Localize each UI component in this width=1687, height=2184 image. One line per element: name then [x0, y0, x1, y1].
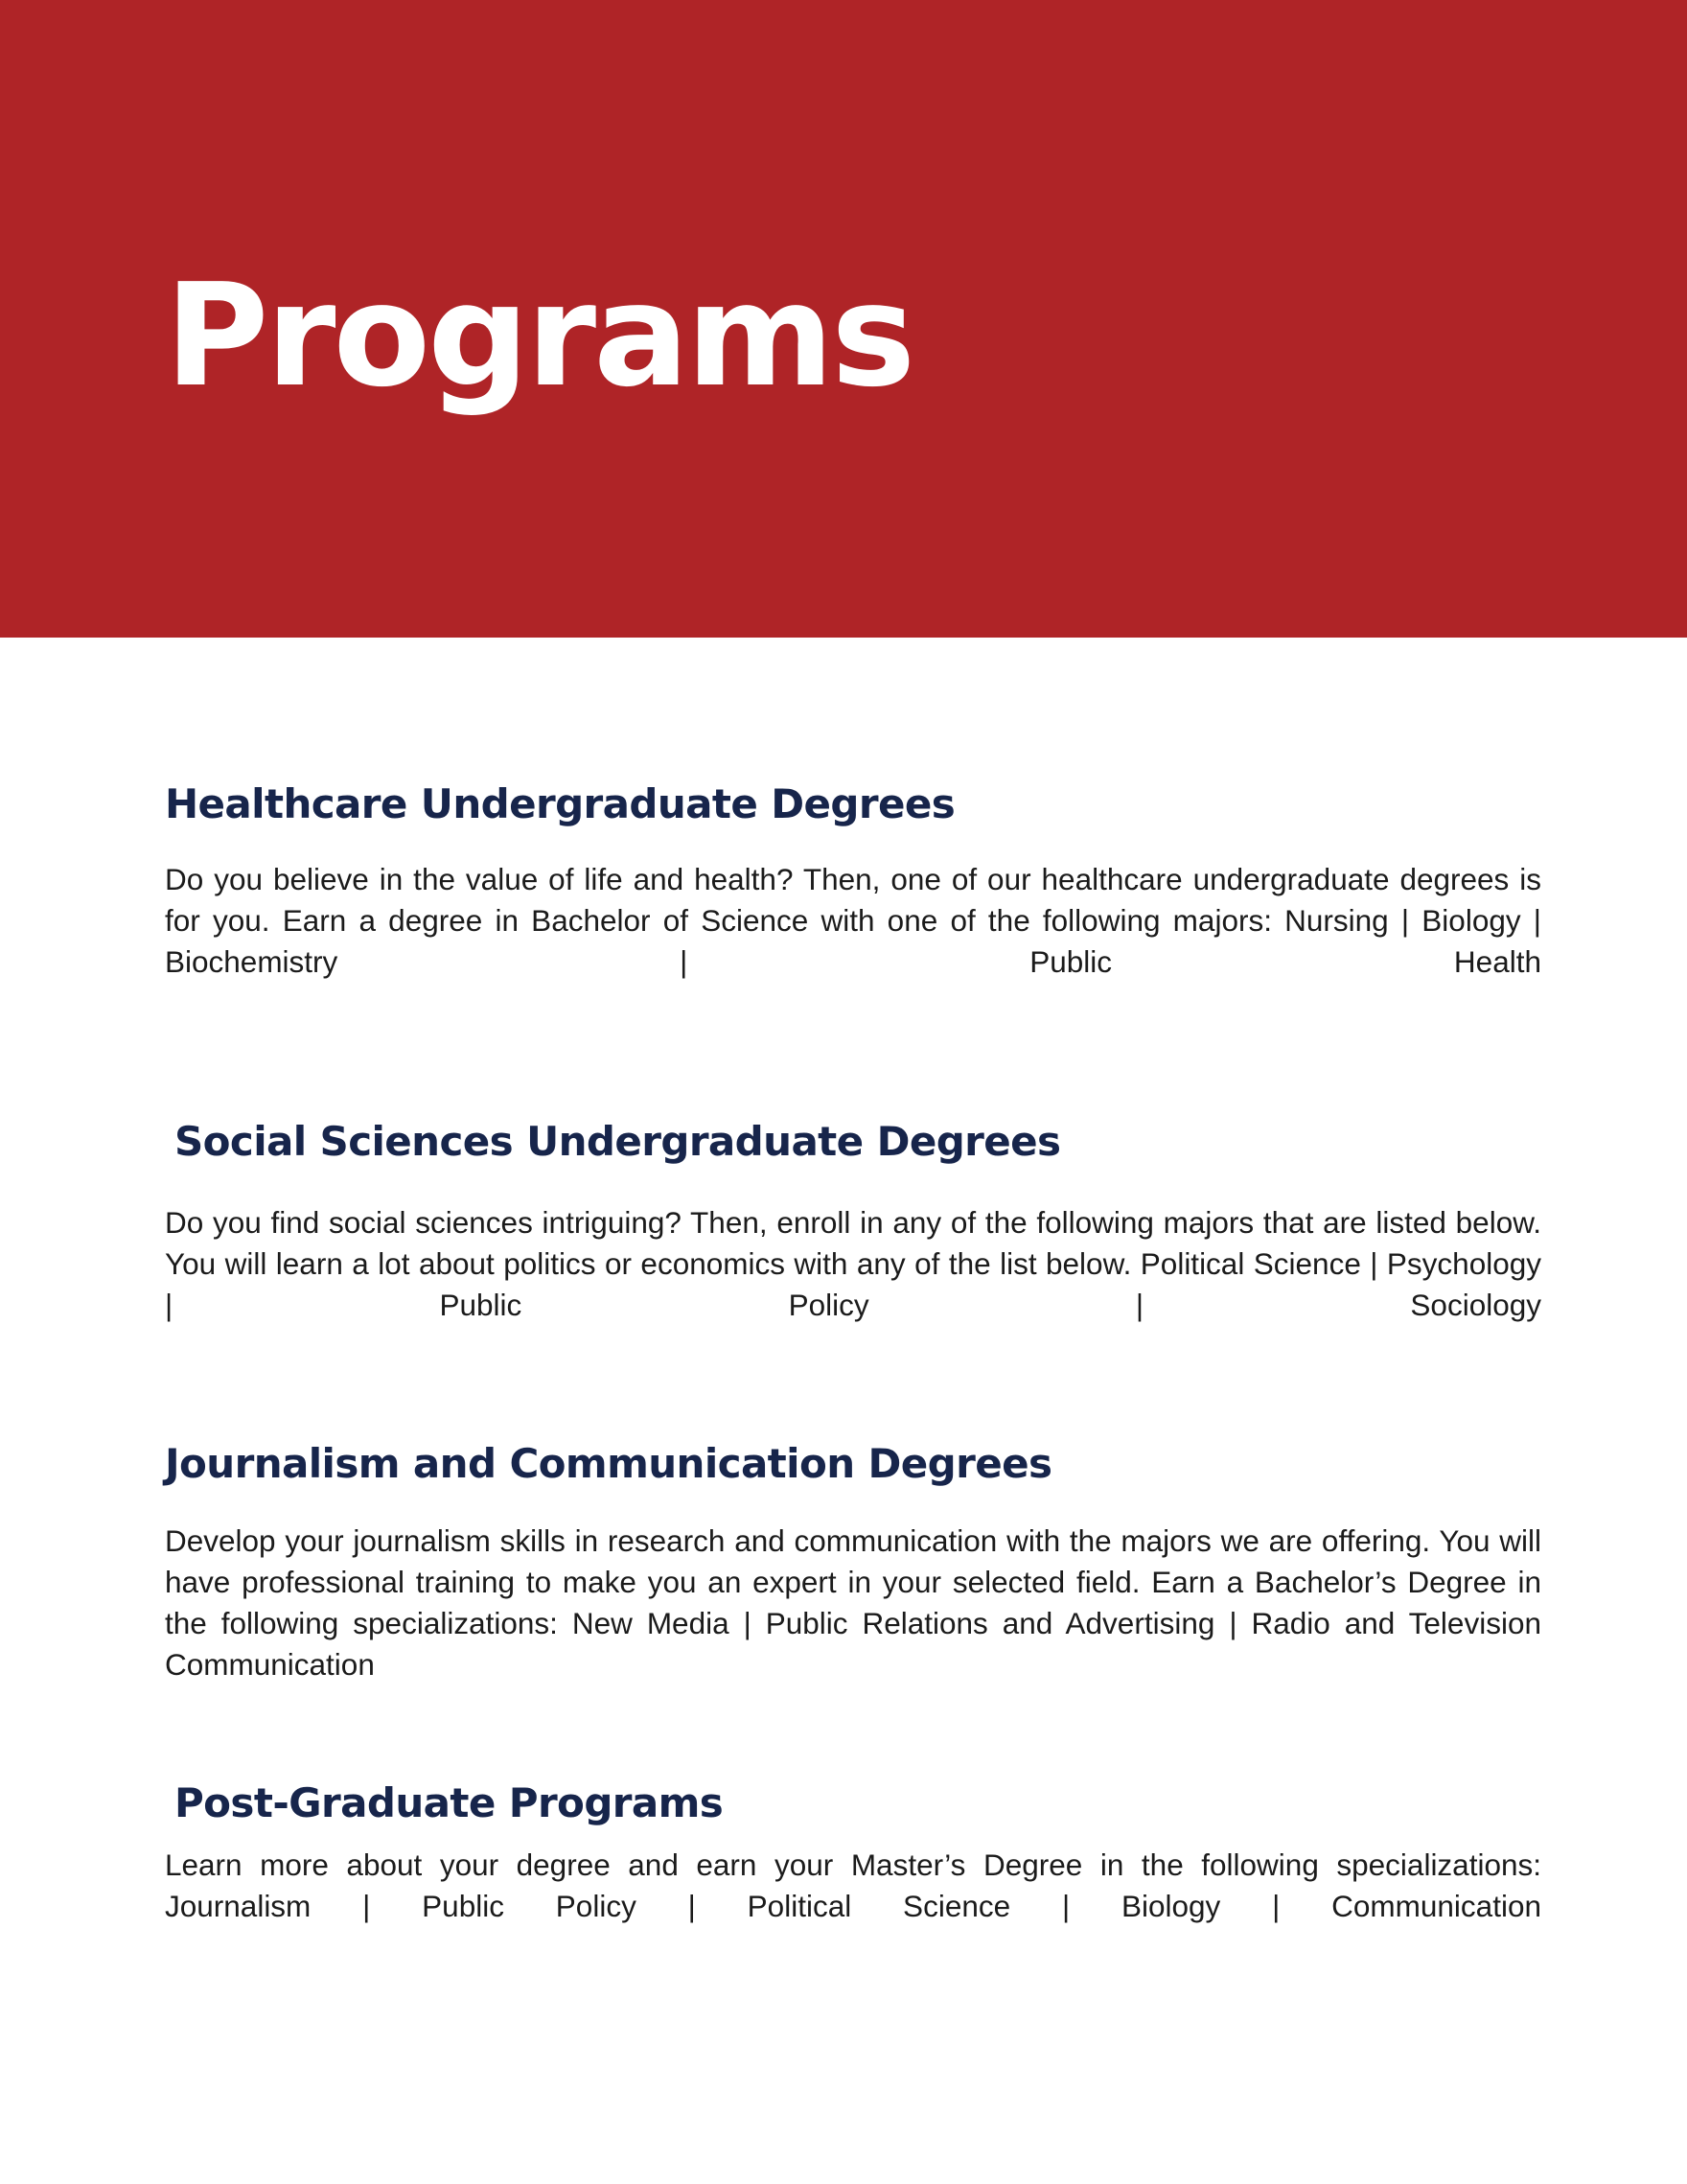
- section-healthcare: Healthcare Undergraduate Degrees Do you …: [0, 781, 1687, 1024]
- section-body-social-sciences: Do you find social sciences intriguing? …: [165, 1202, 1541, 1367]
- section-journalism: Journalism and Communication Degrees Dev…: [0, 1441, 1687, 1727]
- section-body-post-graduate: Learn more about your degree and earn yo…: [165, 1845, 1541, 1968]
- section-heading-post-graduate: Post-Graduate Programs: [174, 1780, 1687, 1825]
- section-body-journalism: Develop your journalism skills in resear…: [165, 1521, 1541, 1727]
- hero-banner: Programs: [0, 0, 1687, 638]
- section-post-graduate: Post-Graduate Programs Learn more about …: [0, 1780, 1687, 1968]
- section-social-sciences: Social Sciences Undergraduate Degrees Do…: [0, 1119, 1687, 1367]
- page-title: Programs: [165, 265, 913, 407]
- section-heading-healthcare: Healthcare Undergraduate Degrees: [165, 781, 1687, 826]
- section-body-healthcare: Do you believe in the value of life and …: [165, 859, 1541, 1024]
- section-heading-journalism: Journalism and Communication Degrees: [165, 1441, 1687, 1486]
- section-heading-social-sciences: Social Sciences Undergraduate Degrees: [174, 1119, 1687, 1164]
